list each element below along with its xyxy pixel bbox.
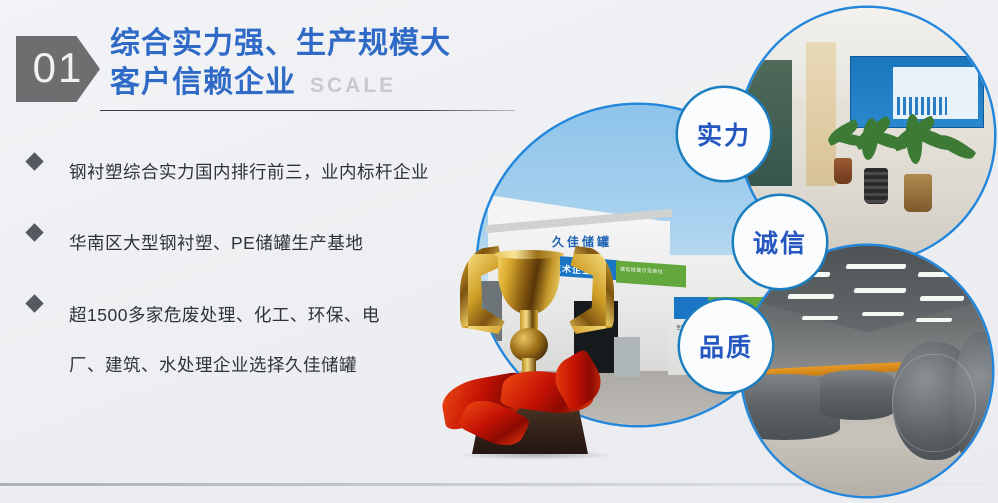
list-item: 钢衬塑综合实力国内排行前三，业内标杆企业 — [18, 148, 488, 197]
office-info-board-chart — [897, 97, 947, 115]
bullet-text-line2: 厂、建筑、水处理企业选择久佳储罐 — [69, 340, 380, 390]
headline-english-label: SCALE — [310, 66, 396, 105]
workshop-skylight — [787, 294, 834, 299]
office-plant-pot — [834, 158, 852, 184]
bullet-text: 超1500多家危废处理、化工、环保、电 — [69, 305, 380, 325]
workshop-skylight — [862, 312, 905, 316]
workshop-skylight — [919, 296, 964, 301]
list-item: 华南区大型钢衬塑、PE储罐生产基地 — [18, 219, 488, 268]
promo-banner: 01 综合实力强、生产规模大 客户信赖企业 SCALE 钢衬塑综合实力国内排行前… — [0, 0, 998, 503]
workshop-skylight — [802, 316, 839, 320]
diamond-bullet-icon — [25, 223, 43, 241]
workshop-skylight — [853, 288, 906, 293]
feature-bullet-list: 钢衬塑综合实力国内排行前三，业内标杆企业 华南区大型钢衬塑、PE储罐生产基地 超… — [18, 148, 488, 412]
badge-strength: 实力 — [678, 88, 770, 180]
photo-collage: 久佳储罐 高新技术企业 诚信经营示范单位 科技创新企业 全国服务热线:40082… — [440, 0, 998, 503]
workshop-skylight — [916, 318, 953, 322]
diamond-bullet-icon — [25, 152, 43, 170]
trophy-knob — [510, 328, 548, 362]
trophy-bowl — [498, 254, 560, 314]
workshop-skylight — [917, 272, 970, 277]
factory-window-panel — [614, 337, 640, 377]
section-number-badge: 01 — [16, 36, 100, 102]
badge-integrity: 诚信 — [734, 196, 826, 288]
workshop-skylight — [845, 264, 906, 269]
list-item: 超1500多家危废处理、化工、环保、电 厂、建筑、水处理企业选择久佳储罐 — [18, 290, 488, 390]
workshop-tank-frame — [892, 354, 976, 452]
golden-trophy-icon — [446, 236, 614, 462]
diamond-bullet-icon — [25, 294, 43, 312]
bullet-text-wrapper: 超1500多家危废处理、化工、环保、电 厂、建筑、水处理企业选择久佳储罐 — [69, 290, 380, 390]
trophy-rim — [494, 250, 564, 259]
trophy-handle-right — [552, 246, 614, 334]
headline-line-2: 客户信赖企业 — [110, 63, 296, 102]
bullet-text: 华南区大型钢衬塑、PE储罐生产基地 — [69, 219, 363, 268]
office-plant-pot — [864, 168, 888, 204]
workshop-storage-tank — [820, 370, 894, 420]
office-plant-pot — [904, 174, 932, 212]
bullet-text: 钢衬塑综合实力国内排行前三，业内标杆企业 — [69, 148, 429, 197]
badge-quality: 品质 — [680, 300, 772, 392]
